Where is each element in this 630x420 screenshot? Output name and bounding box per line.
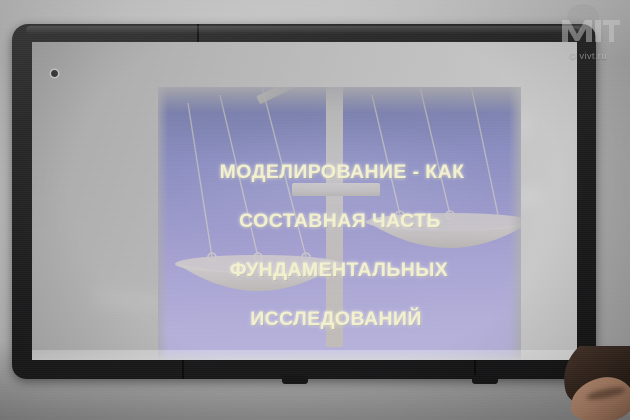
sensor-dot <box>51 70 58 77</box>
whiteboard-surface[interactable]: МОДЕЛИРОВАНИЕ - КАК СОСТАВНАЯ ЧАСТЬ ФУНД… <box>32 42 577 360</box>
slide-title-line-1: МОДЕЛИРОВАНИЕ - КАК <box>178 160 506 185</box>
mount-tab-left <box>282 375 308 384</box>
interactive-whiteboard[interactable]: МОДЕЛИРОВАНИЕ - КАК СОСТАВНАЯ ЧАСТЬ ФУНД… <box>12 24 596 379</box>
slide-title-line-2: СОСТАВНАЯ ЧАСТЬ <box>174 209 506 234</box>
projection-edge-right <box>509 87 521 360</box>
projected-slide: МОДЕЛИРОВАНИЕ - КАК СОСТАВНАЯ ЧАСТЬ ФУНД… <box>158 87 521 360</box>
mount-tab-right <box>472 375 498 384</box>
watermark-text: © vivt.ru <box>552 51 624 62</box>
projection-edge-top <box>158 87 521 113</box>
slide-title-line-3: ФУНДАМЕНТАЛЬНЫХ <box>172 258 506 283</box>
projection-edge-left <box>158 87 168 360</box>
slide-title: МОДЕЛИРОВАНИЕ - КАК СОСТАВНАЯ ЧАСТЬ ФУНД… <box>176 135 506 356</box>
slide-title-line-4: ИССЛЕДОВАНИЙ <box>166 307 506 332</box>
vivt-logo-icon <box>558 4 620 46</box>
watermark: © vivt.ru <box>552 4 624 62</box>
surface-bottom-highlight <box>32 350 577 360</box>
photo-scene: МОДЕЛИРОВАНИЕ - КАК СОСТАВНАЯ ЧАСТЬ ФУНД… <box>0 0 630 420</box>
